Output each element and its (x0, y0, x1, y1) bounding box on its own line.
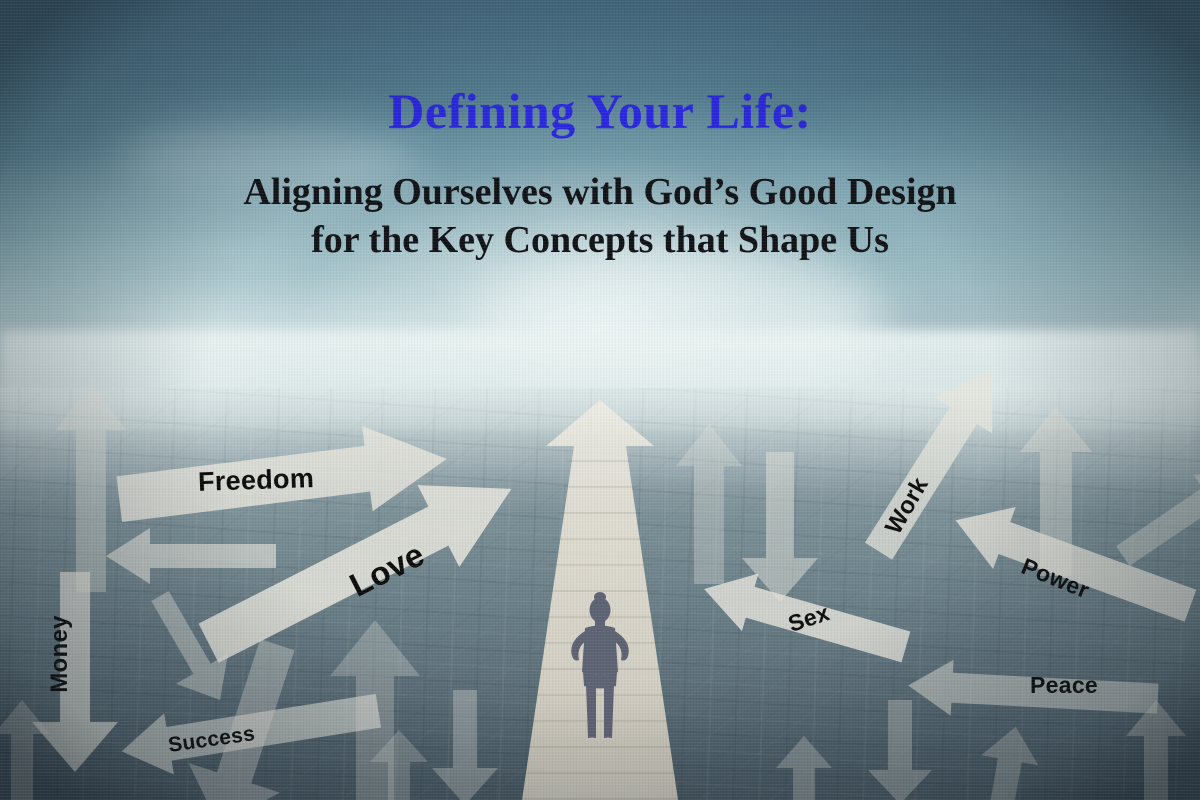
arrow-up-bottom-right-a (1126, 700, 1186, 800)
arrow-up-bottom-mid-left (370, 730, 428, 800)
person-figure (560, 590, 640, 755)
page-subtitle-line-2: for the Key Concepts that Shape Us (0, 216, 1200, 264)
page-title: Defining Your Life: (0, 82, 1200, 140)
path-label-money: Money (46, 615, 74, 693)
slide-canvas: Freedom Love Money Success Work Power Se… (0, 0, 1200, 800)
page-subtitle-line-1: Aligning Ourselves with God’s Good Desig… (0, 168, 1200, 216)
arrow-up-bottom-left-edge (0, 700, 50, 800)
arrow-down-bottom-center-right (868, 700, 932, 800)
path-label-freedom: Freedom (197, 463, 314, 498)
arrow-up-bottom-center-right (776, 736, 832, 800)
path-label-peace: Peace (1030, 672, 1098, 699)
page-subtitle: Aligning Ourselves with God’s Good Desig… (0, 168, 1200, 264)
